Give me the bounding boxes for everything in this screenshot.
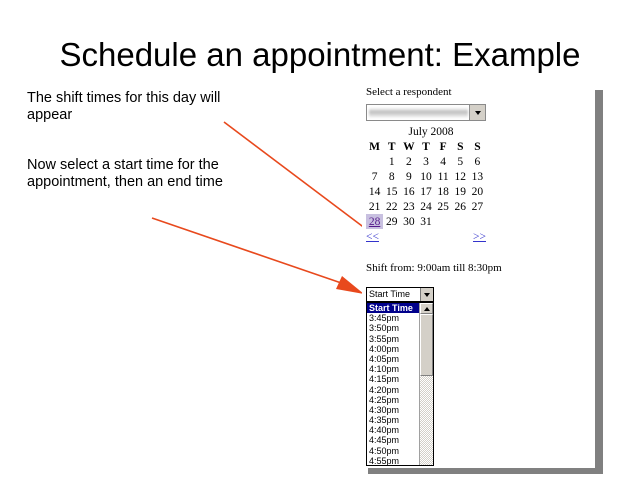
annotation-arrow-to-start-time <box>150 216 380 302</box>
calendar-day[interactable]: 31 <box>417 214 434 229</box>
page-title: Schedule an appointment: Example <box>0 36 640 74</box>
calendar-day[interactable]: 5 <box>452 154 469 169</box>
calendar-day[interactable]: 7 <box>366 169 383 184</box>
calendar-day[interactable]: 15 <box>383 184 400 199</box>
listbox-option[interactable]: 3:55pm <box>367 334 419 344</box>
listbox-option[interactable]: 4:45pm <box>367 435 419 445</box>
listbox-option[interactable]: 4:50pm <box>367 446 419 456</box>
calendar-week-row: 1 2 3 4 5 6 <box>366 154 486 169</box>
appointment-panel: Select a respondent July 2008 M T W T F … <box>362 84 595 468</box>
calendar-day[interactable]: 13 <box>469 169 486 184</box>
callout-text-select-start-time: Now select a start time for the appointm… <box>27 157 262 191</box>
calendar-day[interactable]: 24 <box>417 199 434 214</box>
calendar-day[interactable]: 26 <box>452 199 469 214</box>
calendar-next-link[interactable]: >> <box>473 231 486 243</box>
calendar-day[interactable]: 1 <box>383 154 400 169</box>
calendar-day[interactable]: 16 <box>400 184 417 199</box>
listbox-option[interactable]: 3:50pm <box>367 323 419 333</box>
listbox-option[interactable]: 4:05pm <box>367 354 419 364</box>
calendar-day[interactable]: 21 <box>366 199 383 214</box>
respondent-select[interactable] <box>366 104 486 121</box>
listbox-option[interactable]: 4:10pm <box>367 364 419 374</box>
calendar-day[interactable]: 8 <box>383 169 400 184</box>
calendar-day[interactable]: 20 <box>469 184 486 199</box>
calendar-weekday-mon: M <box>366 140 383 154</box>
start-time-option-list[interactable]: Start Time3:45pm3:50pm3:55pm4:00pm4:05pm… <box>367 303 419 465</box>
calendar-day[interactable]: 17 <box>417 184 434 199</box>
calendar-month-label: July 2008 <box>366 126 490 140</box>
calendar-week-row: 28 29 30 31 <box>366 214 486 229</box>
calendar-day[interactable]: 4 <box>435 154 452 169</box>
calendar-day[interactable]: 29 <box>383 214 400 229</box>
calendar-day <box>469 214 486 229</box>
start-time-combo[interactable]: Start Time <box>366 287 434 302</box>
chevron-down-icon[interactable] <box>469 105 485 120</box>
calendar-week-row: 21 22 23 24 25 26 27 <box>366 199 486 214</box>
calendar-day <box>452 214 469 229</box>
calendar-widget: July 2008 M T W T F S S 1 2 3 <box>366 126 490 243</box>
calendar-day[interactable]: 10 <box>417 169 434 184</box>
triangle-up-icon[interactable] <box>420 303 433 314</box>
calendar-weekday-thu: T <box>417 140 434 154</box>
calendar-day[interactable]: 14 <box>366 184 383 199</box>
listbox-option-selected[interactable]: Start Time <box>367 303 419 313</box>
respondent-selected-value <box>369 107 468 118</box>
listbox-option[interactable]: 4:35pm <box>367 415 419 425</box>
calendar-day[interactable]: 25 <box>435 199 452 214</box>
listbox-option[interactable]: 3:45pm <box>367 313 419 323</box>
listbox-option[interactable]: 4:30pm <box>367 405 419 415</box>
respondent-label: Select a respondent <box>366 86 452 99</box>
calendar-grid: M T W T F S S 1 2 3 4 5 6 <box>366 140 486 229</box>
calendar-day[interactable]: 9 <box>400 169 417 184</box>
start-time-listbox[interactable]: Start Time3:45pm3:50pm3:55pm4:00pm4:05pm… <box>366 302 434 466</box>
listbox-scrollbar[interactable] <box>419 303 433 465</box>
calendar-weekday-wed: W <box>400 140 417 154</box>
calendar-weekday-fri: F <box>435 140 452 154</box>
panel-shadow-right <box>595 90 603 474</box>
listbox-option[interactable]: 4:40pm <box>367 425 419 435</box>
shift-hours-text: Shift from: 9:00am till 8:30pm <box>366 262 502 275</box>
calendar-week-row: 14 15 16 17 18 19 20 <box>366 184 486 199</box>
callout-text-shift-times: The shift times for this day will appear <box>27 90 257 124</box>
calendar-day[interactable]: 22 <box>383 199 400 214</box>
listbox-option[interactable]: 4:00pm <box>367 344 419 354</box>
calendar-day[interactable]: 11 <box>435 169 452 184</box>
calendar-weekday-tue: T <box>383 140 400 154</box>
calendar-day[interactable]: 30 <box>400 214 417 229</box>
calendar-day[interactable]: 2 <box>400 154 417 169</box>
calendar-day[interactable]: 6 <box>469 154 486 169</box>
chevron-down-icon[interactable] <box>420 288 433 301</box>
scrollbar-thumb[interactable] <box>420 314 433 376</box>
calendar-prev-link[interactable]: << <box>366 231 379 243</box>
calendar-weekday-sun: S <box>469 140 486 154</box>
calendar-day <box>366 154 383 169</box>
calendar-day[interactable]: 18 <box>435 184 452 199</box>
calendar-day[interactable]: 23 <box>400 199 417 214</box>
calendar-nav: << >> <box>366 229 486 243</box>
calendar-weekday-row: M T W T F S S <box>366 140 486 154</box>
calendar-day <box>435 214 452 229</box>
listbox-option[interactable]: 4:15pm <box>367 374 419 384</box>
calendar-day-selected[interactable]: 28 <box>366 214 383 229</box>
calendar-day[interactable]: 19 <box>452 184 469 199</box>
calendar-day[interactable]: 12 <box>452 169 469 184</box>
calendar-weekday-sat: S <box>452 140 469 154</box>
start-time-combo-value: Start Time <box>367 288 420 301</box>
calendar-day[interactable]: 27 <box>469 199 486 214</box>
listbox-option[interactable]: 4:20pm <box>367 385 419 395</box>
calendar-week-row: 7 8 9 10 11 12 13 <box>366 169 486 184</box>
listbox-option[interactable]: 4:25pm <box>367 395 419 405</box>
calendar-day[interactable]: 3 <box>417 154 434 169</box>
listbox-option[interactable]: 4:55pm <box>367 456 419 465</box>
